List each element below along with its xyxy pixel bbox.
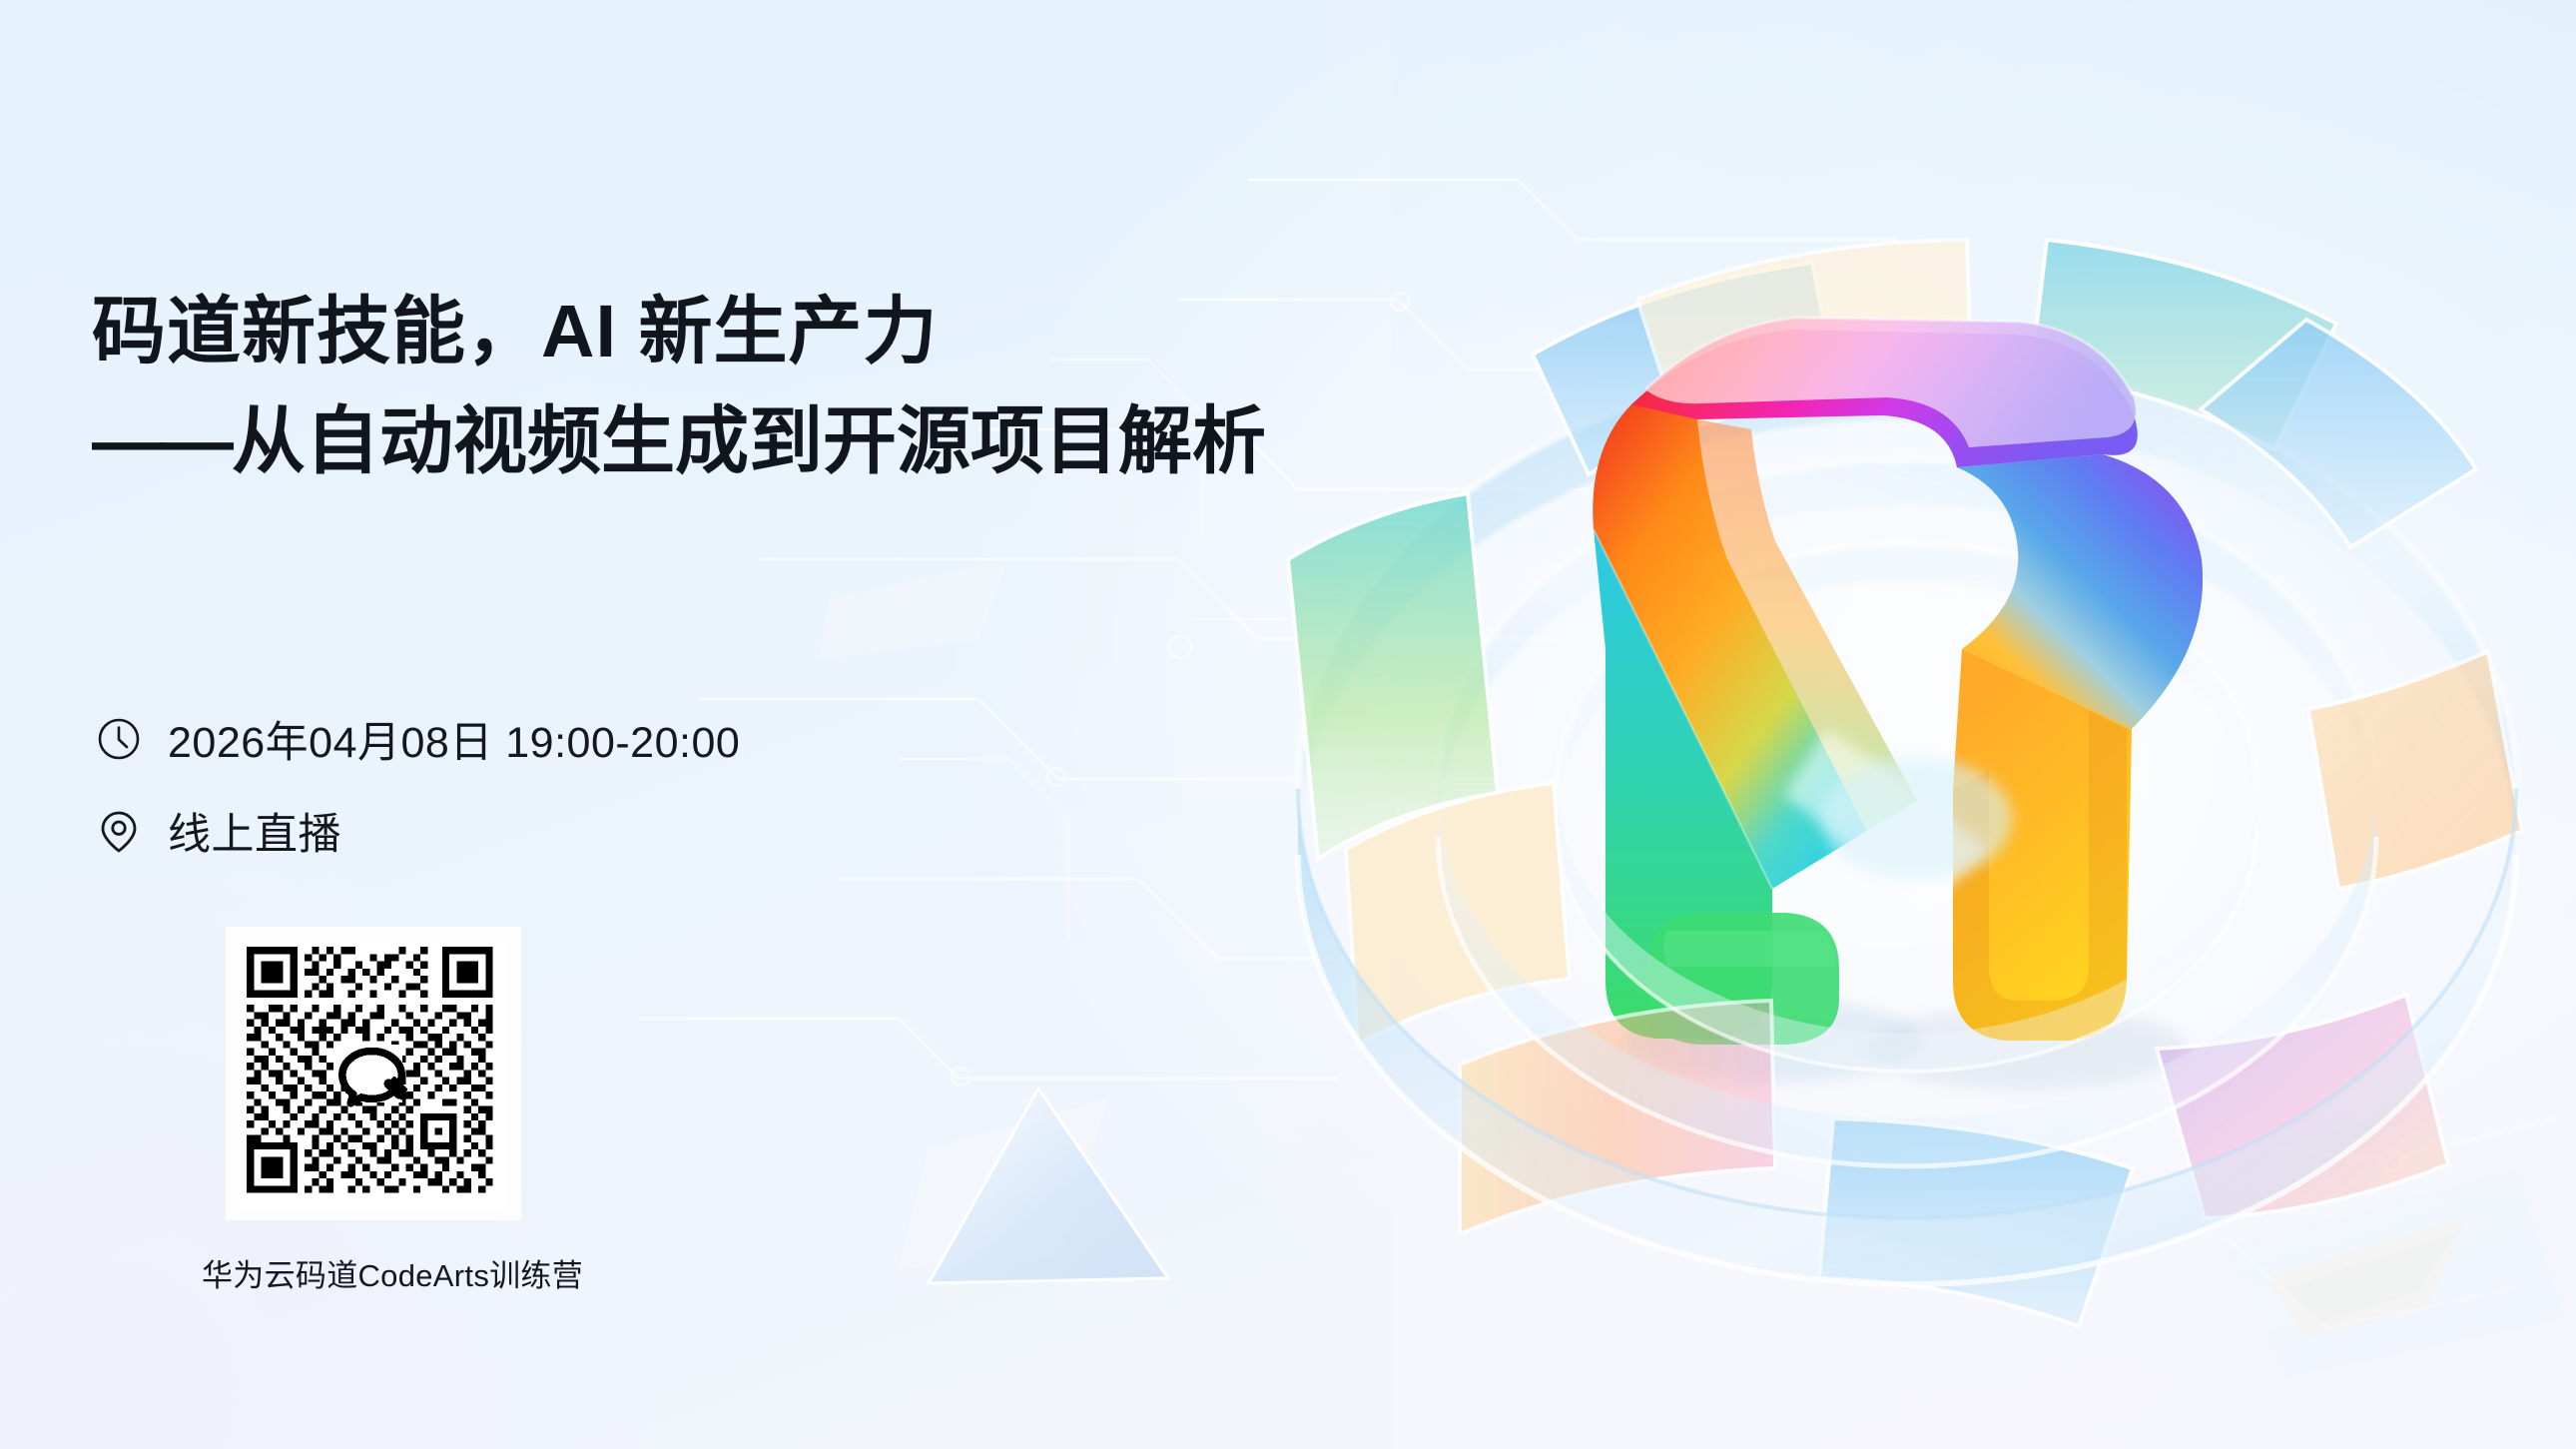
page-title-line2: ——从自动视频生成到开源项目解析 [92,401,1210,481]
qr-code-image[interactable] [240,940,507,1207]
meta-row-location: 线上直播 [96,799,1094,863]
title-block: 码道新技能，AI 新生产力 ——从自动视频生成到开源项目解析 [92,292,1210,481]
page-title-line1: 码道新技能，AI 新生产力 [92,292,1210,371]
meta-row-datetime: 2026年04月08日 19:00-20:00 [96,707,1094,771]
event-meta: 2026年04月08日 19:00-20:00 线上直播 [96,707,1094,891]
event-location-text: 线上直播 [168,800,341,862]
qr-code[interactable] [226,927,521,1220]
location-pin-icon [96,808,142,854]
clock-icon [96,716,142,762]
page-subtitle-text: 从自动视频生成到开源项目解析 [232,399,1266,482]
qr-block: 华为云码道CodeArts训练营 [226,927,521,1295]
promo-banner: 码道新技能，AI 新生产力 ——从自动视频生成到开源项目解析 2026年04月0… [0,0,2576,1449]
qr-caption: 华为云码道CodeArts训练营 [202,1250,521,1295]
event-datetime-text: 2026年04月08日 19:00-20:00 [168,708,740,770]
em-dash: —— [92,399,228,482]
hero-artwork [1228,90,2576,1378]
content-column: 码道新技能，AI 新生产力 ——从自动视频生成到开源项目解析 2026年04月0… [0,0,1228,1449]
